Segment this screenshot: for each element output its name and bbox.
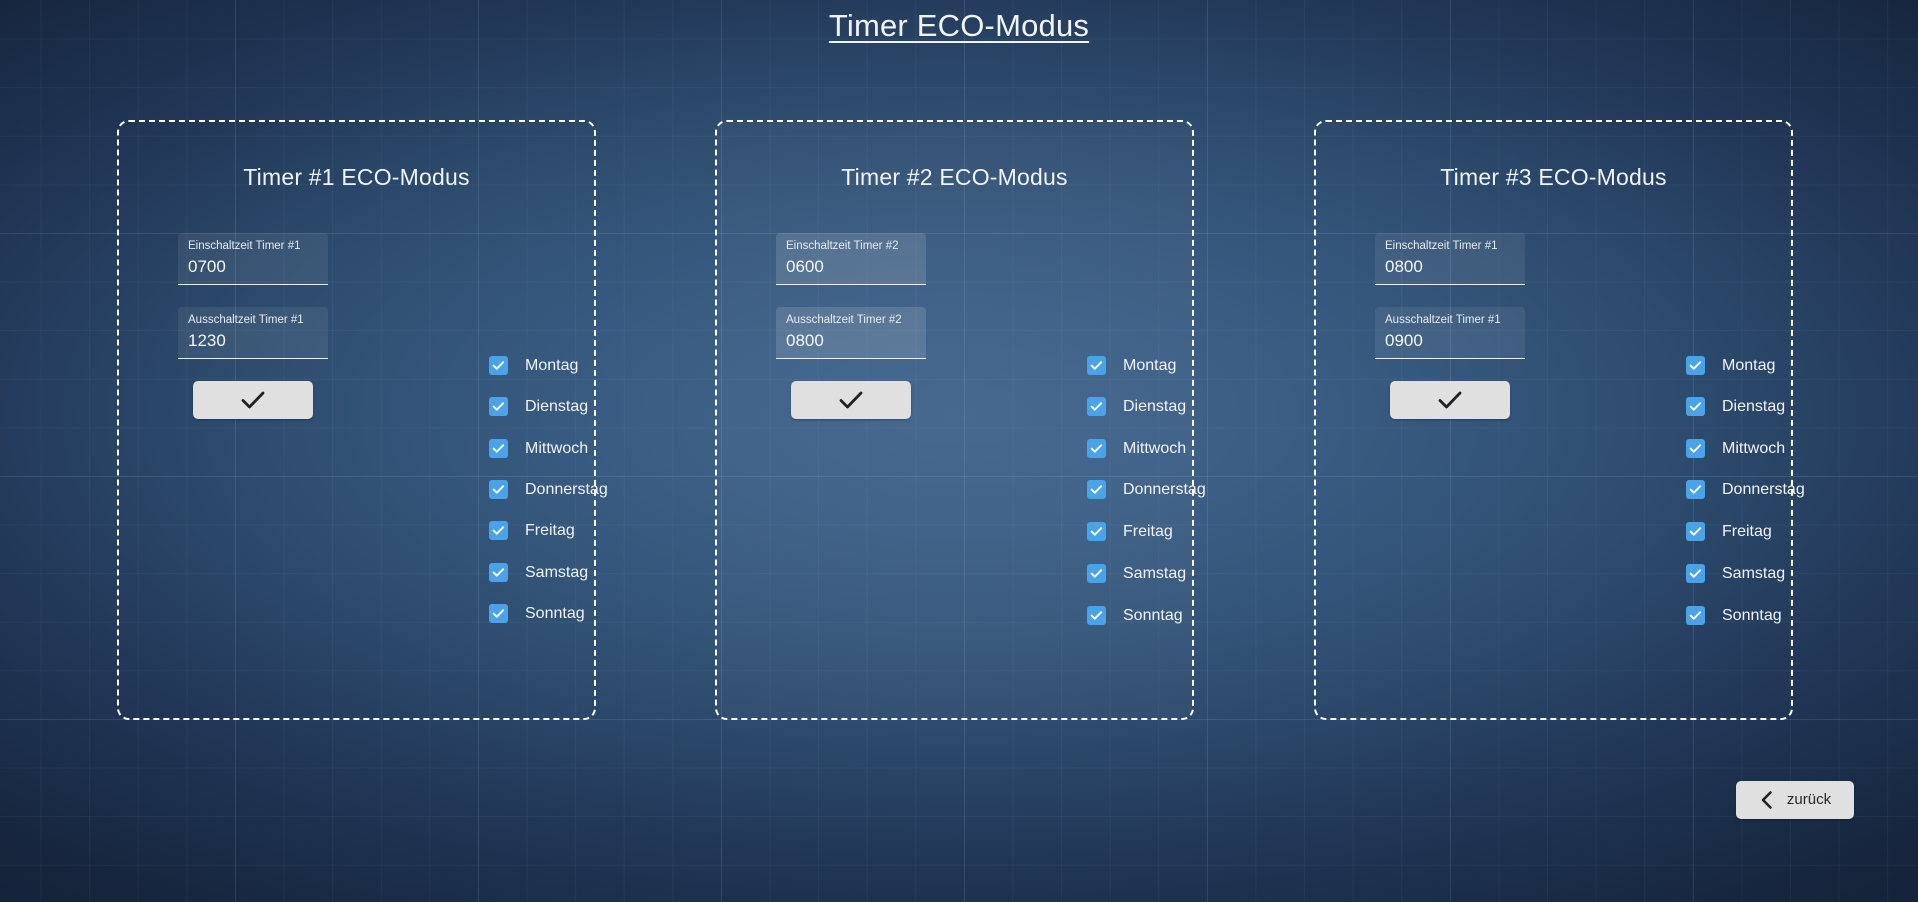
check-icon [1437, 390, 1463, 410]
panel-left-column: Einschaltzeit Timer #1 0800 Ausschaltzei… [1375, 233, 1525, 419]
day-row-freitag[interactable]: Freitag [489, 520, 575, 542]
day-label: Dienstag [1123, 397, 1186, 416]
day-label: Montag [1722, 356, 1775, 375]
checkbox-sonntag[interactable] [489, 604, 508, 623]
on-time-label: Einschaltzeit Timer #2 [786, 239, 916, 253]
check-icon [240, 390, 266, 410]
confirm-button[interactable] [791, 381, 911, 419]
day-label: Freitag [1123, 522, 1173, 541]
day-row-sonntag[interactable]: Sonntag [1087, 605, 1183, 627]
day-label: Dienstag [525, 397, 588, 416]
day-row-samstag[interactable]: Samstag [1686, 563, 1785, 585]
on-time-field[interactable]: Einschaltzeit Timer #2 0600 [776, 233, 926, 285]
checkbox-samstag[interactable] [1087, 564, 1106, 583]
checkbox-donnerstag[interactable] [1087, 480, 1106, 499]
day-label: Sonntag [1722, 606, 1782, 625]
checkbox-freitag[interactable] [489, 521, 508, 540]
panel-title: Timer #3 ECO-Modus [1316, 164, 1791, 191]
checkbox-dienstag[interactable] [1087, 397, 1106, 416]
on-time-label: Einschaltzeit Timer #1 [188, 239, 318, 253]
panel-title: Timer #2 ECO-Modus [717, 164, 1192, 191]
day-label: Mittwoch [525, 439, 588, 458]
day-row-freitag[interactable]: Freitag [1087, 521, 1173, 543]
day-label: Donnerstag [525, 480, 608, 499]
checkbox-samstag[interactable] [1686, 564, 1705, 583]
day-row-sonntag[interactable]: Sonntag [1686, 605, 1782, 627]
timer-eco-screen: Timer ECO-Modus Timer #1 ECO-Modus Einsc… [0, 0, 1918, 902]
off-time-value: 1230 [188, 329, 318, 353]
day-label: Samstag [525, 563, 588, 582]
day-label: Mittwoch [1123, 439, 1186, 458]
day-label: Samstag [1123, 564, 1186, 583]
day-label: Sonntag [1123, 606, 1183, 625]
on-time-value: 0800 [1385, 255, 1515, 279]
checkbox-donnerstag[interactable] [489, 480, 508, 499]
on-time-value: 0700 [188, 255, 318, 279]
on-time-label: Einschaltzeit Timer #1 [1385, 239, 1515, 253]
panel-title: Timer #1 ECO-Modus [119, 164, 594, 191]
checkbox-mittwoch[interactable] [489, 439, 508, 458]
checkbox-samstag[interactable] [489, 563, 508, 582]
timer-panel-2: Timer #2 ECO-Modus Einschaltzeit Timer #… [715, 120, 1194, 720]
checkbox-sonntag[interactable] [1087, 606, 1106, 625]
confirm-button[interactable] [193, 381, 313, 419]
off-time-field[interactable]: Ausschaltzeit Timer #1 0900 [1375, 307, 1525, 359]
day-row-samstag[interactable]: Samstag [489, 561, 588, 583]
confirm-button[interactable] [1390, 381, 1510, 419]
day-label: Donnerstag [1722, 480, 1805, 499]
page-title: Timer ECO-Modus [0, 8, 1918, 44]
day-label: Freitag [525, 521, 575, 540]
checkbox-freitag[interactable] [1686, 522, 1705, 541]
day-row-dienstag[interactable]: Dienstag [1686, 396, 1785, 418]
back-button-label: zurück [1787, 791, 1831, 809]
off-time-field[interactable]: Ausschaltzeit Timer #1 1230 [178, 307, 328, 359]
day-label: Dienstag [1722, 397, 1785, 416]
day-row-mittwoch[interactable]: Mittwoch [489, 437, 588, 459]
off-time-value: 0800 [786, 329, 916, 353]
on-time-value: 0600 [786, 255, 916, 279]
day-row-donnerstag[interactable]: Donnerstag [489, 478, 608, 500]
day-row-sonntag[interactable]: Sonntag [489, 603, 585, 625]
off-time-value: 0900 [1385, 329, 1515, 353]
checkbox-dienstag[interactable] [1686, 397, 1705, 416]
off-time-label: Ausschaltzeit Timer #1 [1385, 313, 1515, 327]
day-label: Mittwoch [1722, 439, 1785, 458]
checkbox-dienstag[interactable] [489, 397, 508, 416]
day-row-mittwoch[interactable]: Mittwoch [1087, 437, 1186, 459]
day-row-donnerstag[interactable]: Donnerstag [1087, 479, 1206, 501]
day-row-freitag[interactable]: Freitag [1686, 521, 1772, 543]
off-time-field[interactable]: Ausschaltzeit Timer #2 0800 [776, 307, 926, 359]
day-row-montag[interactable]: Montag [1686, 354, 1775, 376]
day-row-donnerstag[interactable]: Donnerstag [1686, 479, 1805, 501]
back-button[interactable]: zurück [1736, 781, 1854, 819]
day-label: Sonntag [525, 604, 585, 623]
checkbox-sonntag[interactable] [1686, 606, 1705, 625]
day-row-montag[interactable]: Montag [1087, 354, 1176, 376]
checkbox-freitag[interactable] [1087, 522, 1106, 541]
checkbox-donnerstag[interactable] [1686, 480, 1705, 499]
timer-panel-3: Timer #3 ECO-Modus Einschaltzeit Timer #… [1314, 120, 1793, 720]
day-label: Montag [1123, 356, 1176, 375]
panel-left-column: Einschaltzeit Timer #1 0700 Ausschaltzei… [178, 233, 328, 419]
checkbox-mittwoch[interactable] [1686, 439, 1705, 458]
off-time-label: Ausschaltzeit Timer #1 [188, 313, 318, 327]
panel-left-column: Einschaltzeit Timer #2 0600 Ausschaltzei… [776, 233, 926, 419]
day-row-mittwoch[interactable]: Mittwoch [1686, 437, 1785, 459]
day-label: Montag [525, 356, 578, 375]
day-label: Freitag [1722, 522, 1772, 541]
chevron-left-icon [1759, 790, 1774, 810]
day-label: Donnerstag [1123, 480, 1206, 499]
on-time-field[interactable]: Einschaltzeit Timer #1 0800 [1375, 233, 1525, 285]
day-row-dienstag[interactable]: Dienstag [1087, 396, 1186, 418]
checkbox-mittwoch[interactable] [1087, 439, 1106, 458]
on-time-field[interactable]: Einschaltzeit Timer #1 0700 [178, 233, 328, 285]
check-icon [838, 390, 864, 410]
timer-panel-1: Timer #1 ECO-Modus Einschaltzeit Timer #… [117, 120, 596, 720]
off-time-label: Ausschaltzeit Timer #2 [786, 313, 916, 327]
checkbox-montag[interactable] [489, 356, 508, 375]
day-row-montag[interactable]: Montag [489, 354, 578, 376]
day-row-samstag[interactable]: Samstag [1087, 563, 1186, 585]
checkbox-montag[interactable] [1686, 356, 1705, 375]
checkbox-montag[interactable] [1087, 356, 1106, 375]
day-label: Samstag [1722, 564, 1785, 583]
day-row-dienstag[interactable]: Dienstag [489, 396, 588, 418]
